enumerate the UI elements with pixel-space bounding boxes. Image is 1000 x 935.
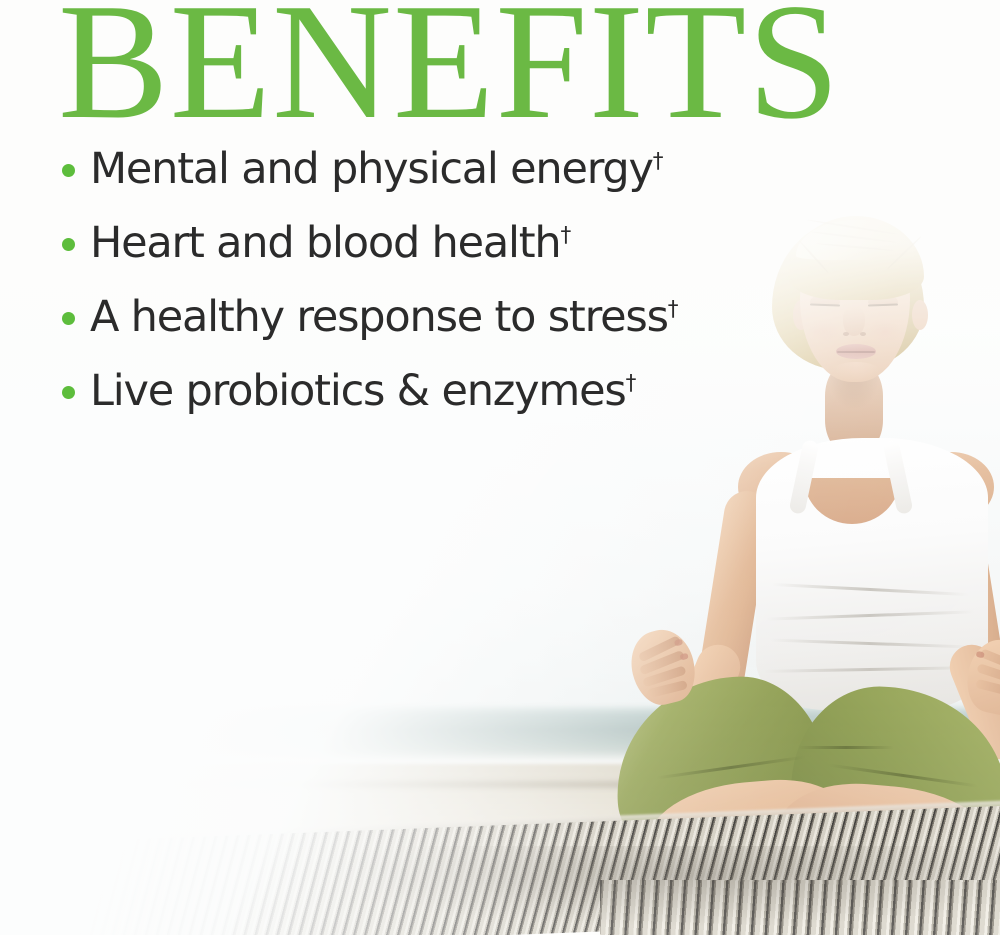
footnote-dagger-icon: † [560,223,571,248]
copy-block: BENEFITS Mental and physical energy† Hea… [0,0,1000,935]
bullet-dot-icon [62,238,75,251]
benefit-text: A healthy response to stress [90,292,668,342]
footnote-dagger-icon: † [668,297,679,322]
bullet-dot-icon [62,386,75,399]
benefit-item-0: Mental and physical energy† [56,146,856,192]
benefit-text: Heart and blood health [90,218,560,268]
benefit-item-3: Live probiotics & enzymes† [56,368,856,414]
benefit-item-2: A healthy response to stress† [56,294,856,340]
benefit-item-1: Heart and blood health† [56,220,856,266]
benefits-list: Mental and physical energy† Heart and bl… [56,146,856,414]
bullet-dot-icon [62,312,75,325]
benefit-text: Mental and physical energy [90,144,653,194]
benefit-text: Live probiotics & enzymes [90,366,626,416]
bullet-dot-icon [62,164,75,177]
footnote-dagger-icon: † [626,371,637,396]
page-title: BENEFITS [58,0,841,144]
footnote-dagger-icon: † [653,149,664,174]
benefits-graphic: BENEFITS Mental and physical energy† Hea… [0,0,1000,935]
